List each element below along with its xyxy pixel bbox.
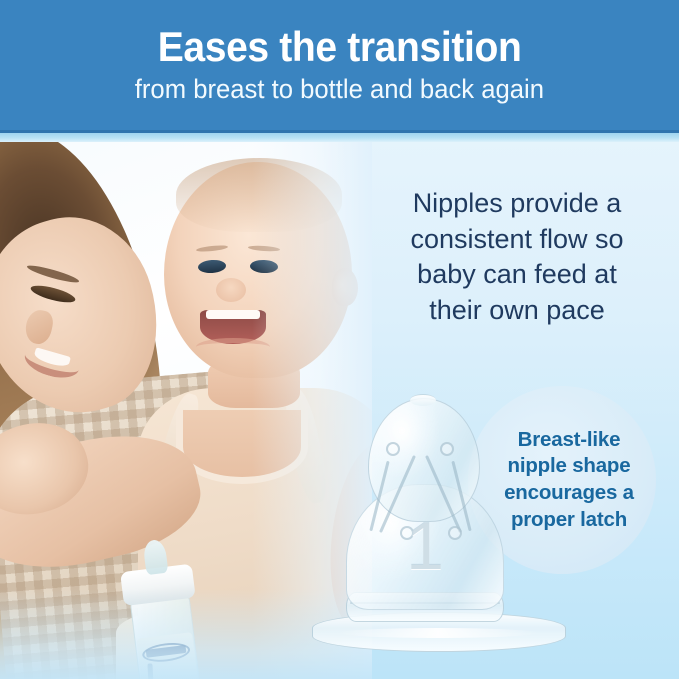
product-nipple: 1 bbox=[300, 380, 590, 660]
nipple-flow-level-marking: 1 bbox=[378, 512, 472, 580]
body-copy-line-4: their own pace bbox=[372, 293, 662, 329]
body-copy-line-1: Nipples provide a bbox=[372, 186, 662, 222]
product-feature-image: Eases the transition from breast to bott… bbox=[0, 0, 679, 679]
headline: Eases the transition bbox=[158, 25, 522, 69]
banner-underglow bbox=[0, 133, 679, 142]
nipple-vent-knob bbox=[386, 442, 400, 456]
header-banner: Eases the transition from breast to bott… bbox=[0, 0, 679, 133]
nipple-base-highlight bbox=[338, 628, 538, 638]
body-copy: Nipples provide a consistent flow so bab… bbox=[372, 186, 662, 329]
nipple-tip bbox=[410, 394, 436, 406]
bottle-nipple bbox=[142, 539, 168, 575]
nipple-vent-knob bbox=[440, 442, 454, 456]
subheadline: from breast to bottle and back again bbox=[135, 74, 544, 105]
baby-nose bbox=[216, 278, 246, 302]
body-copy-line-3: baby can feed at bbox=[372, 257, 662, 293]
body-copy-line-2: consistent flow so bbox=[372, 222, 662, 258]
